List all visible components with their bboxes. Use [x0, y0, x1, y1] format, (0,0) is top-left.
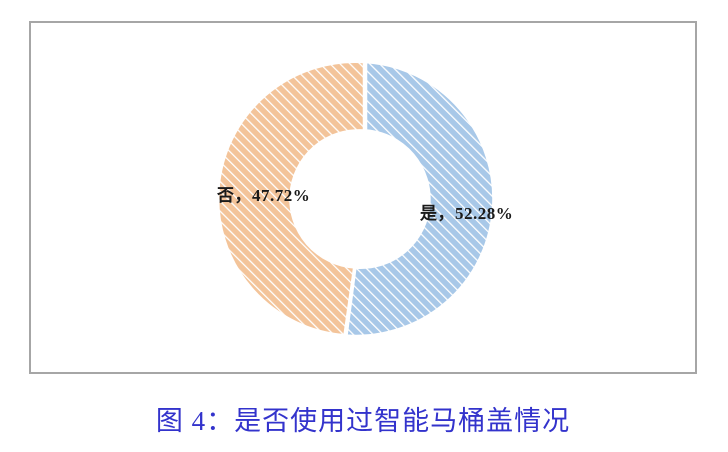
slice-label-yes: 是，52.28% [420, 205, 513, 222]
figure-caption: 图 4：是否使用过智能马桶盖情况 [29, 404, 697, 439]
donut-chart: 否，47.72% 是，52.28% [31, 23, 699, 376]
donut-slice-yes[interactable] [347, 62, 494, 336]
chart-frame: 否，47.72% 是，52.28% [29, 21, 697, 374]
donut-chart-svg [31, 23, 699, 376]
figure-container: 否，47.72% 是，52.28% 图 4：是否使用过智能马桶盖情况 [0, 0, 728, 452]
slice-label-no: 否，47.72% [217, 187, 310, 204]
